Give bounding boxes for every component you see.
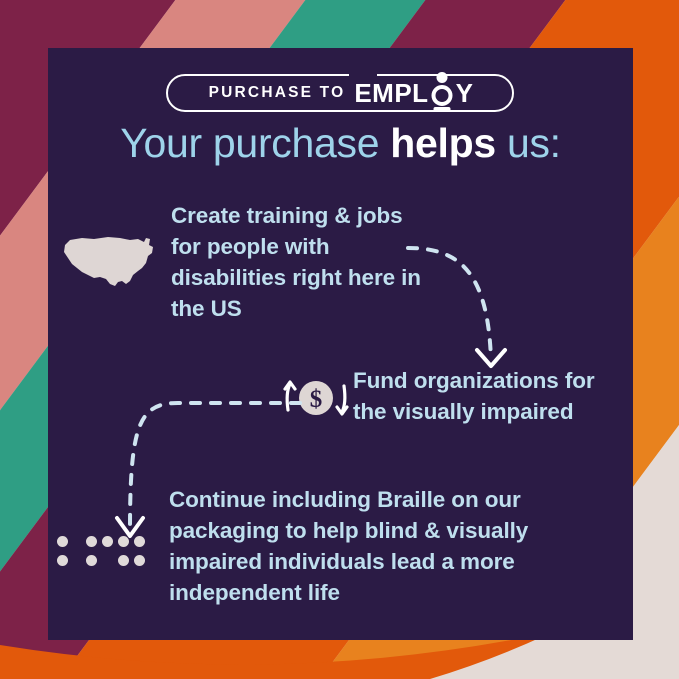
page-title: Your purchase helps us: [48, 122, 633, 165]
item-text-training-jobs: Create training & jobs for people with d… [171, 200, 436, 324]
content-card: PURCHASE TO EMPL Y Your purchase helps u… [48, 48, 633, 640]
item-text-braille-packaging: Continue including Braille on our packag… [169, 484, 569, 608]
poster: PURCHASE TO EMPL Y Your purchase helps u… [0, 0, 679, 679]
us-map-icon [60, 228, 160, 290]
braille-dots-icon [55, 535, 151, 569]
item-text-fund-organizations: Fund organizations for the visually impa… [353, 365, 628, 427]
logo-wordmark-suffix: Y [456, 80, 474, 106]
logo-wordmark-prefix: EMPL [354, 80, 428, 106]
brand-logo: PURCHASE TO EMPL Y [166, 68, 516, 114]
headline-part2: us: [496, 120, 561, 166]
logo-tagline: PURCHASE TO [209, 85, 346, 101]
headline-emphasis: helps [390, 120, 496, 166]
dashed-curved-arrow-down-icon [403, 230, 553, 370]
person-o-icon [430, 73, 455, 113]
logo-wordmark: EMPL Y [354, 73, 473, 113]
headline-part1: Your purchase [120, 120, 390, 166]
